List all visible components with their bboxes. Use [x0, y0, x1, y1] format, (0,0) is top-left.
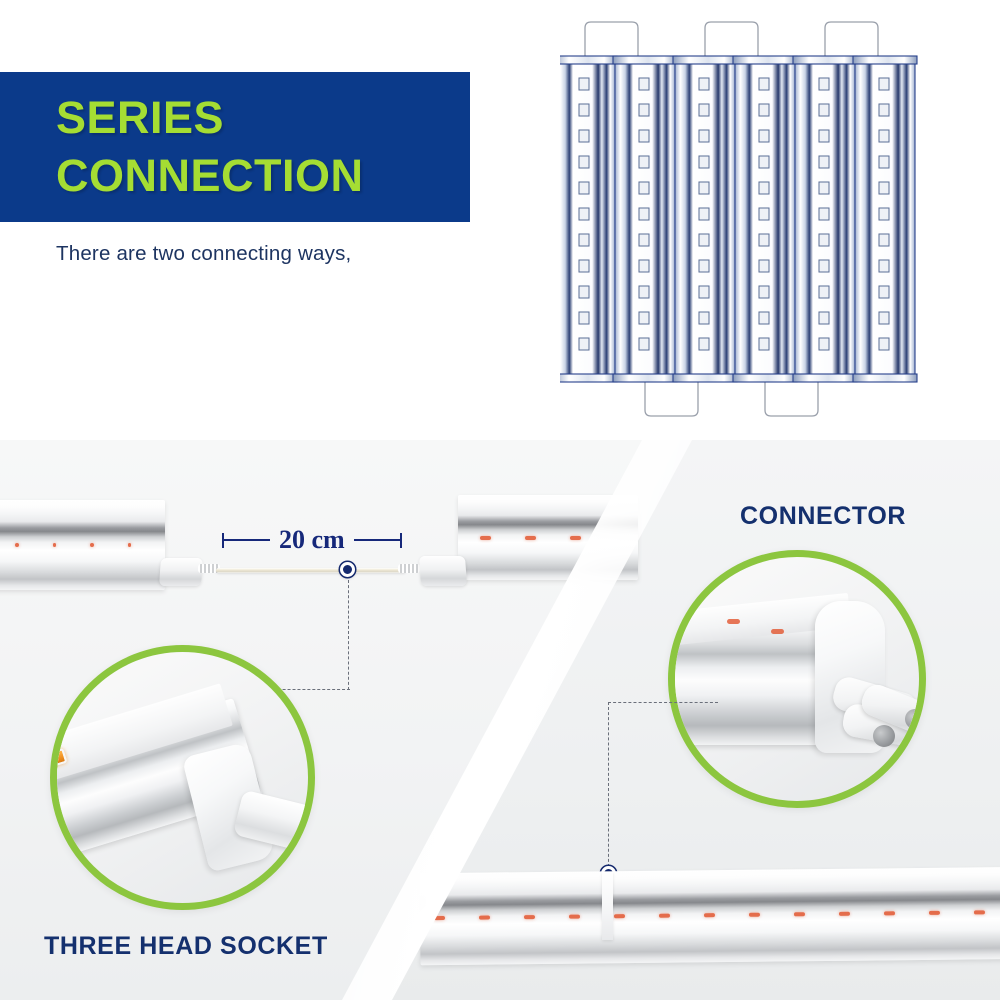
led-dot: [704, 913, 715, 917]
led-strip: [420, 909, 1000, 920]
tube-4: [733, 56, 797, 382]
led-dot: [128, 543, 131, 547]
led-dot: [929, 910, 940, 914]
tube-lower-long: [420, 867, 1000, 965]
title-banner: SERIES CONNECTION: [0, 72, 470, 222]
led-dot: [569, 914, 580, 918]
wire-group-top: [585, 22, 878, 56]
leader-line-vertical-right: [608, 702, 609, 872]
wire-group-bottom: [645, 382, 818, 416]
page-title-line-1: SERIES: [56, 89, 470, 147]
led-dot: [479, 915, 490, 919]
leader-line-horizontal-right: [608, 702, 718, 703]
wire-tube3-tube4: [705, 22, 758, 56]
led-dot: [727, 619, 740, 624]
callout-image-three-head-socket: [57, 652, 308, 903]
led-dot: [839, 911, 850, 915]
led-dot: [524, 915, 535, 919]
top-section: SERIES CONNECTION There are two connecti…: [0, 0, 1000, 440]
dimension-label: 20 cm: [270, 525, 354, 555]
connector-pin-hole-2: [873, 725, 895, 747]
wire-tube1-tube2: [585, 22, 638, 56]
led-dot: [614, 914, 625, 918]
led-dot: [749, 912, 760, 916]
tube-left-segment: [0, 500, 165, 590]
led-dot: [771, 629, 784, 634]
callout-label-connector: CONNECTOR: [740, 502, 906, 531]
callout-three-head-socket[interactable]: [50, 645, 315, 910]
bottom-section: 20 cm THR: [0, 440, 1000, 1000]
tube-6: [853, 56, 917, 382]
dimension-cap-right: [400, 533, 402, 548]
callout-label-three-head-socket: THREE HEAD SOCKET: [44, 932, 328, 961]
connection-point-marker: [340, 562, 355, 577]
tube-connector-tab: [602, 872, 613, 940]
led-dot: [90, 543, 93, 547]
led-dot: [480, 536, 491, 540]
dimension-20cm: 20 cm: [222, 525, 402, 555]
connection-cable: [216, 568, 406, 573]
tube-3: [673, 56, 737, 382]
led-dot: [974, 910, 985, 914]
dimension-line-left: [224, 539, 270, 541]
led-dot: [884, 911, 895, 915]
led-dot: [15, 543, 18, 547]
dimension-line-right: [354, 539, 400, 541]
callout-connector[interactable]: [668, 550, 926, 808]
page-title-line-2: CONNECTION: [56, 147, 470, 205]
tube-row: [560, 56, 917, 382]
wire-tube2-tube3: [645, 382, 698, 416]
infographic-root: SERIES CONNECTION There are two connecti…: [0, 0, 1000, 1000]
led-dot: [659, 913, 670, 917]
tube-5: [793, 56, 857, 382]
leader-line-vertical-left: [348, 580, 349, 690]
led-strip: [0, 542, 165, 547]
subtitle-text: There are two connecting ways,: [56, 242, 351, 266]
plug-left: [159, 558, 203, 586]
led-dot: [794, 912, 805, 916]
wire-tube4-tube5: [765, 382, 818, 416]
callout-image-connector: [675, 557, 919, 801]
series-wiring-schematic: [560, 12, 990, 432]
wire-tube5-tube6: [825, 22, 878, 56]
tube-1: [560, 56, 617, 382]
tube-2: [613, 56, 677, 382]
led-dot: [53, 543, 56, 547]
led-dot: [525, 536, 536, 540]
plug-right: [419, 556, 467, 586]
led-dot: [570, 536, 581, 540]
cable-ridge-right: [398, 564, 420, 573]
